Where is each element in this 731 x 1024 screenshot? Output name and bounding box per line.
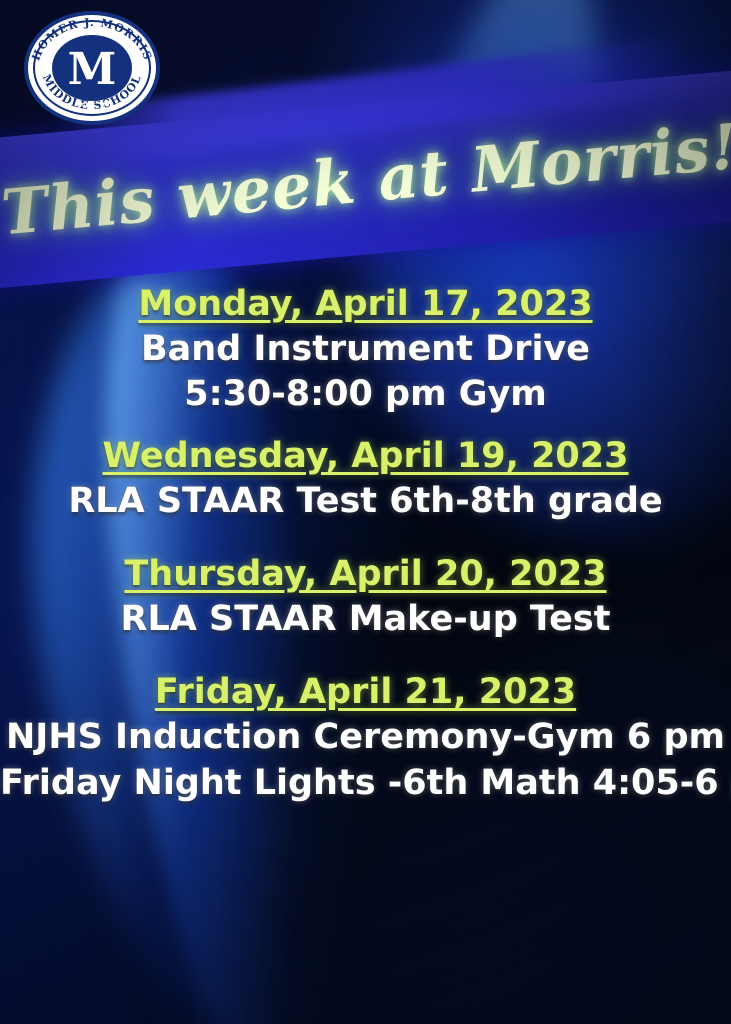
event-line: Friday Night Lights -6th Math 4:05-6 pm xyxy=(0,761,731,807)
weekly-announcement-poster: This week at Morris! M HOMER J. MORRIS M… xyxy=(0,0,731,1024)
svg-text:★ ★ ★: ★ ★ ★ xyxy=(77,100,107,110)
event-line: NJHS Induction Ceremony-Gym 6 pm xyxy=(0,715,731,761)
event-block: Thursday, April 20, 2023 RLA STAAR Make-… xyxy=(0,552,731,642)
event-line: Band Instrument Drive xyxy=(0,327,731,373)
event-day: Monday, April 17, 2023 xyxy=(0,282,731,327)
event-day: Wednesday, April 19, 2023 xyxy=(0,434,731,479)
school-crest-logo: M HOMER J. MORRIS MIDDLE SCHOOL ★ ★ ★ xyxy=(18,8,166,134)
event-line: 5:30-8:00 pm Gym xyxy=(0,372,731,418)
spacer xyxy=(0,424,731,434)
spacer xyxy=(0,648,731,670)
event-block: Wednesday, April 19, 2023 RLA STAAR Test… xyxy=(0,434,731,524)
event-block: Monday, April 17, 2023 Band Instrument D… xyxy=(0,282,731,418)
svg-text:M: M xyxy=(68,44,117,95)
event-line: RLA STAAR Test 6th-8th grade xyxy=(0,479,731,525)
event-line: RLA STAAR Make-up Test xyxy=(0,597,731,643)
events-list: Monday, April 17, 2023 Band Instrument D… xyxy=(0,282,731,812)
event-day: Friday, April 21, 2023 xyxy=(0,670,731,715)
event-day: Thursday, April 20, 2023 xyxy=(0,552,731,597)
event-block: Friday, April 21, 2023 NJHS Induction Ce… xyxy=(0,670,731,806)
spacer xyxy=(0,530,731,552)
